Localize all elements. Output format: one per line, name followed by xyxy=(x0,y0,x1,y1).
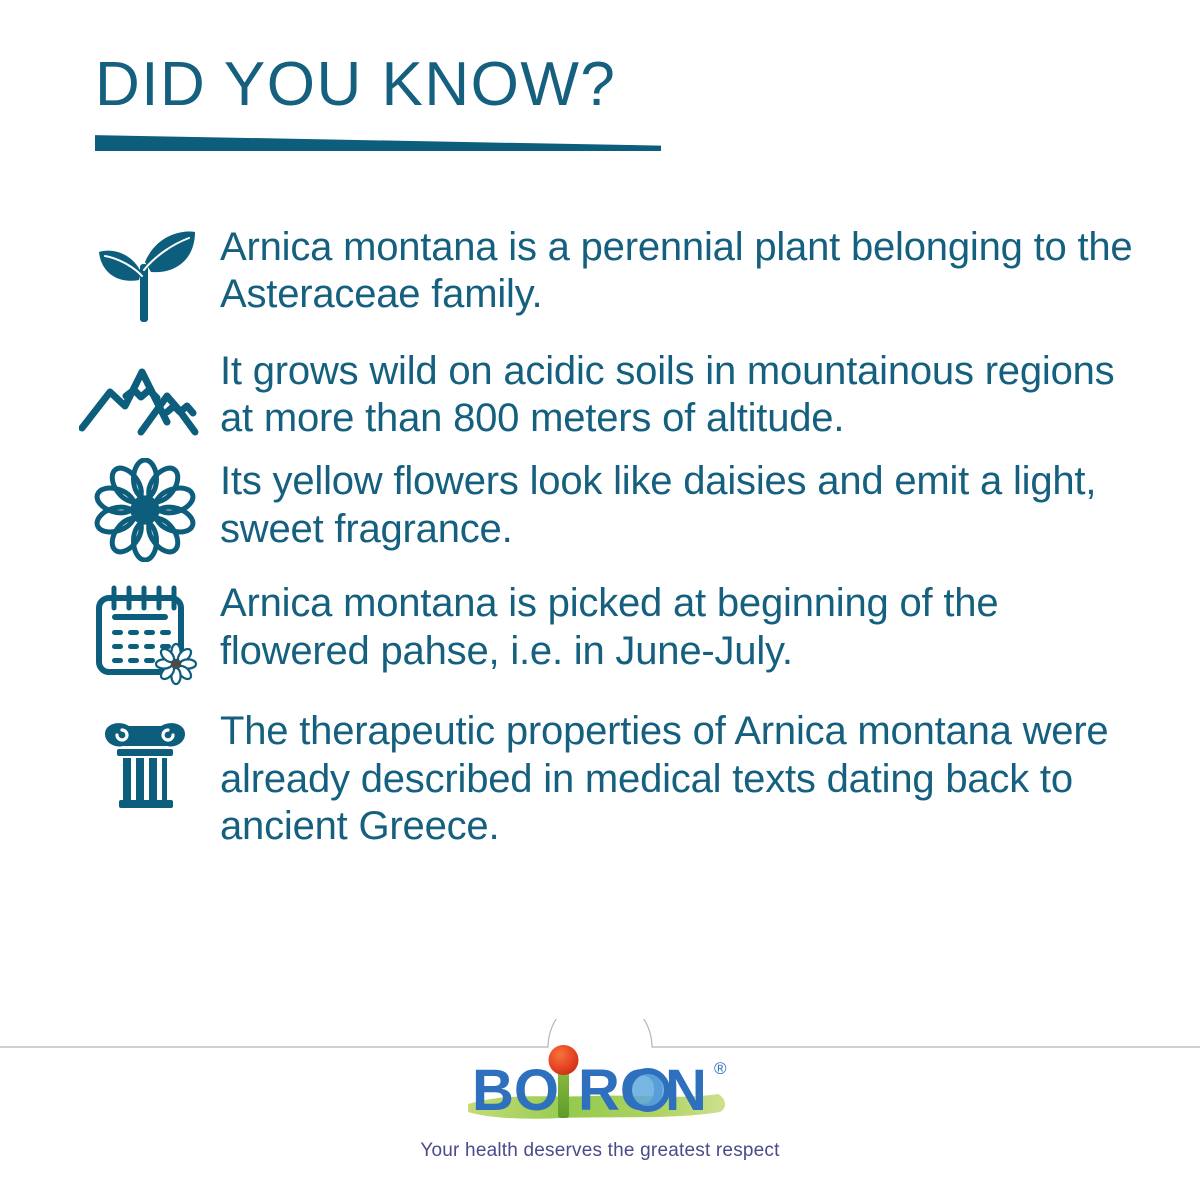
infographic-page: DID YOU KNOW? Arnica montan xyxy=(0,0,1200,1200)
footer-tagline: Your health deserves the greatest respec… xyxy=(0,1140,1200,1162)
calendar-flower-icon xyxy=(70,578,220,686)
fact-text: It grows wild on acidic soils in mountai… xyxy=(220,346,1145,442)
fact-text: The therapeutic properties of Arnica mon… xyxy=(220,706,1145,850)
title-underline-rule xyxy=(95,135,661,151)
boiron-logo: BO RON ® xyxy=(450,1040,750,1132)
fact-text: Arnica montana is a perennial plant belo… xyxy=(220,222,1145,318)
footer: BO RON ® Your health deserves the greate… xyxy=(0,1040,1200,1162)
fact-item: Arnica montana is a perennial plant belo… xyxy=(70,222,1145,324)
sprout-icon xyxy=(70,222,220,324)
fact-item: Its yellow flowers look like daisies and… xyxy=(70,456,1145,562)
fact-list: Arnica montana is a perennial plant belo… xyxy=(70,222,1145,850)
daisy-flower-icon xyxy=(70,456,220,562)
fact-text: Its yellow flowers look like daisies and… xyxy=(220,456,1145,552)
fact-text: Arnica montana is picked at beginning of… xyxy=(220,578,1145,674)
fact-item: The therapeutic properties of Arnica mon… xyxy=(70,706,1145,850)
mountains-icon xyxy=(70,346,220,440)
fact-item: Arnica montana is picked at beginning of… xyxy=(70,578,1145,686)
header: DID YOU KNOW? xyxy=(95,52,995,151)
logo-wordmark-before: BO xyxy=(472,1058,559,1123)
page-title: DID YOU KNOW? xyxy=(95,52,995,117)
fact-item: It grows wild on acidic soils in mountai… xyxy=(70,346,1145,442)
registered-trademark-icon: ® xyxy=(714,1059,727,1078)
greek-column-icon xyxy=(70,706,220,812)
